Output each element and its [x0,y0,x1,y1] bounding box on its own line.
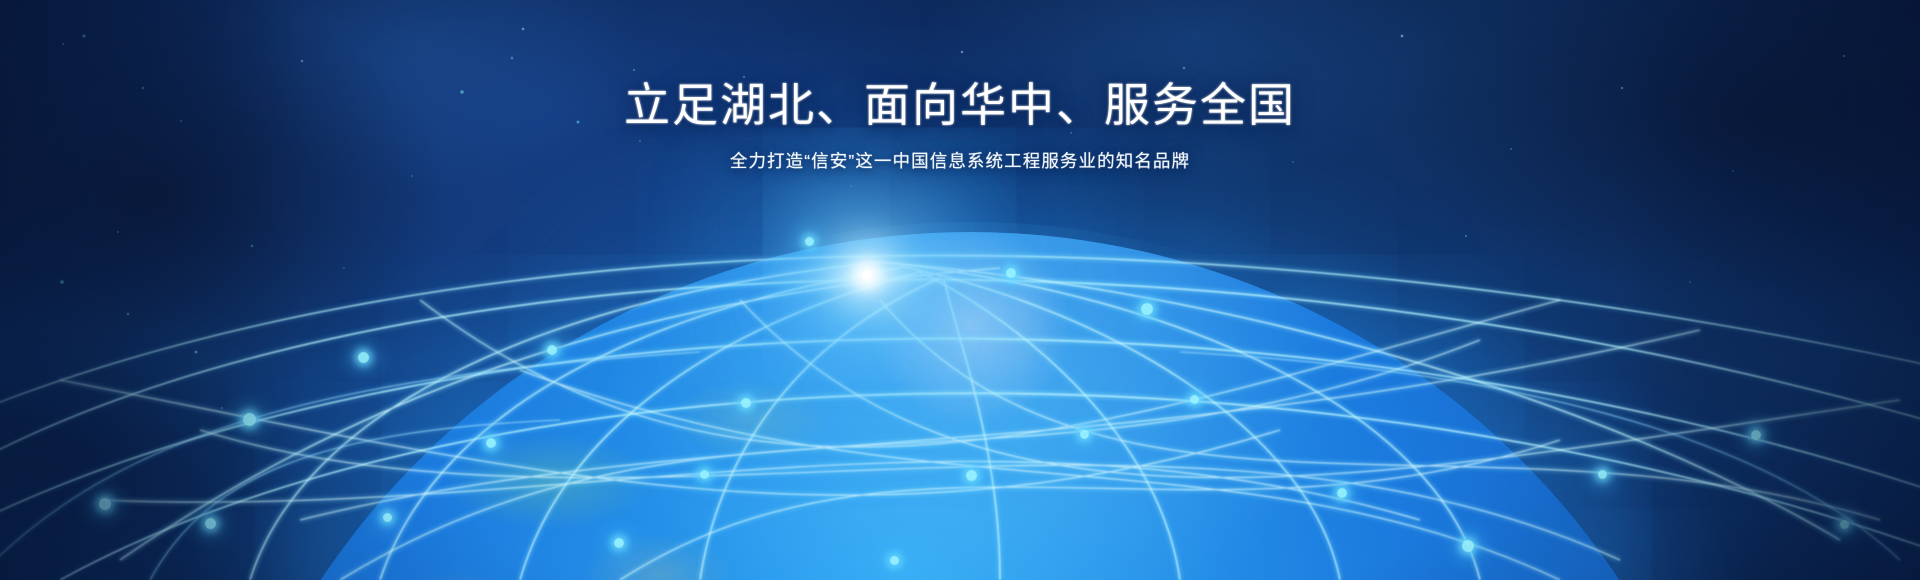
hero-banner: 立足湖北、面向华中、服务全国 全力打造“信安”这一中国信息系统工程服务业的知名品… [0,0,1920,580]
network-node [243,413,256,426]
network-node [1141,303,1153,315]
banner-copy: 立足湖北、面向华中、服务全国 全力打造“信安”这一中国信息系统工程服务业的知名品… [0,78,1920,173]
network-node [741,398,751,408]
banner-headline: 立足湖北、面向华中、服务全国 [0,78,1920,132]
network-node [1840,520,1849,529]
network-node [1080,430,1089,439]
network-node [966,470,977,481]
network-node [1751,430,1761,440]
network-node [547,345,557,355]
network-node [99,498,111,510]
network-node [205,518,216,529]
network-node [1190,395,1199,404]
network-node [700,470,709,479]
network-node [805,237,814,246]
banner-subheadline: 全力打造“信安”这一中国信息系统工程服务业的知名品牌 [0,148,1920,173]
network-node [614,538,624,548]
network-node [383,513,392,522]
network-node [358,352,369,363]
network-node [1462,540,1474,552]
network-node [1337,488,1347,498]
network-node [1006,268,1016,278]
network-node [1598,470,1607,479]
network-node [890,556,899,565]
network-node [486,438,496,448]
